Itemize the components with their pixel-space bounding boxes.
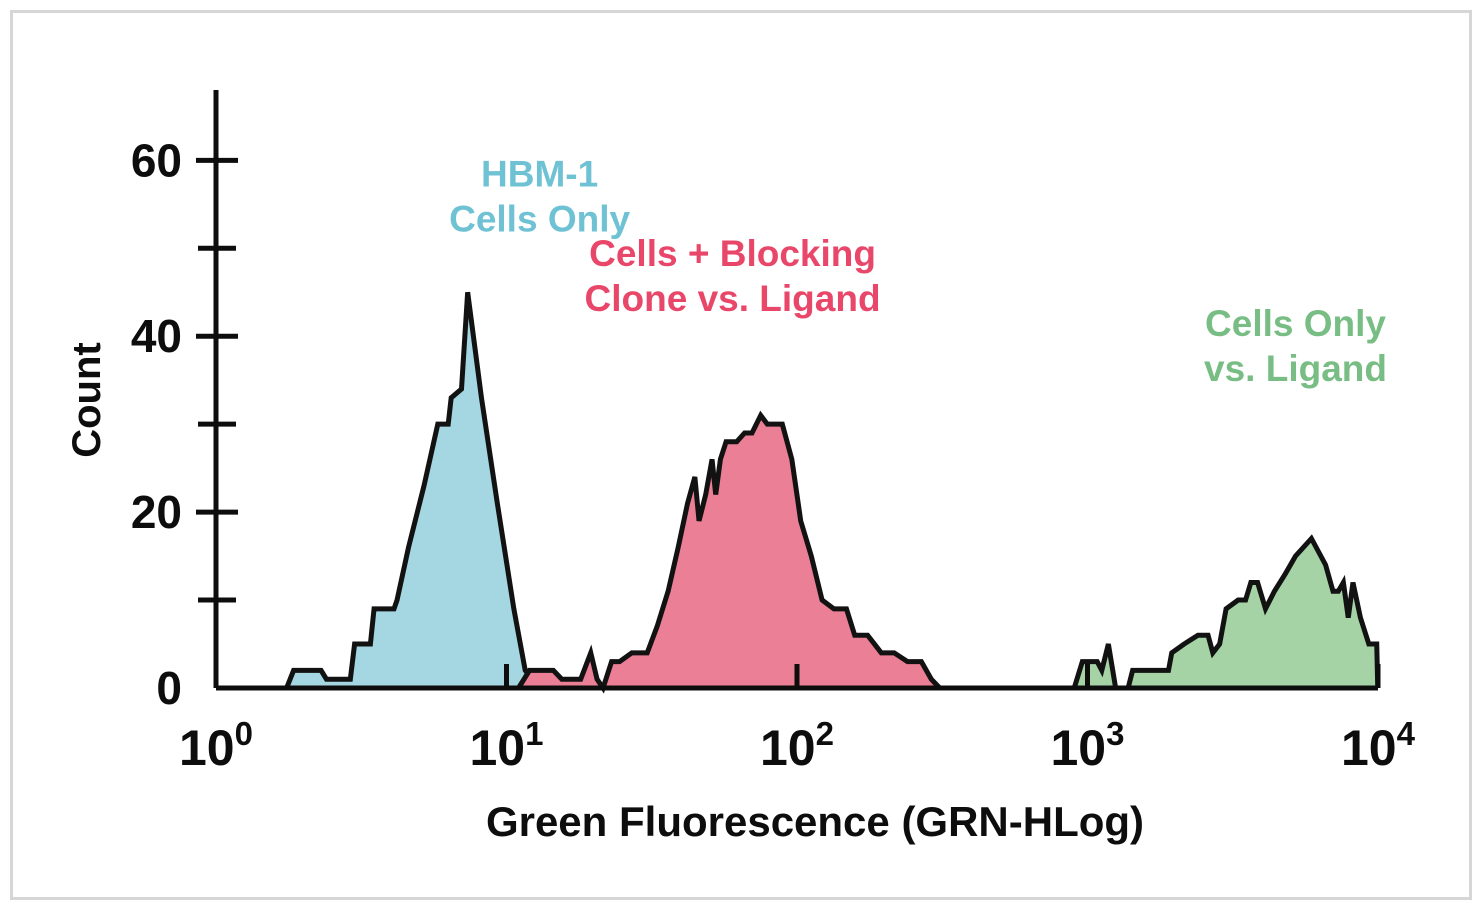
y-tick-layer: 0204060 bbox=[131, 134, 238, 714]
series-label-3: Cells Onlyvs. Ligand bbox=[1204, 303, 1387, 389]
x-axis-title: Green Fluorescence (GRN-HLog) bbox=[486, 798, 1144, 845]
y-tick-label-40: 40 bbox=[131, 310, 182, 362]
y-tick-20: 20 bbox=[131, 486, 238, 538]
series-annotation-layer: HBM-1Cells OnlyCells + BlockingClone vs.… bbox=[449, 154, 1387, 390]
y-tick-label-20: 20 bbox=[131, 486, 182, 538]
histogram-figure: 100101102103104 0204060 HBM-1Cells OnlyC… bbox=[0, 0, 1482, 910]
y-tick-0: 0 bbox=[156, 662, 182, 714]
y-tick-label-60: 60 bbox=[131, 134, 182, 186]
series-label-1: HBM-1Cells Only bbox=[449, 154, 630, 240]
y-axis-title: Count bbox=[65, 342, 109, 458]
x-tick-label-4: 104 bbox=[1341, 715, 1416, 776]
y-tick-label-0: 0 bbox=[156, 662, 182, 714]
x-tick-label-1: 101 bbox=[470, 715, 544, 776]
y-tick-60: 60 bbox=[131, 134, 238, 186]
series-area-1 bbox=[287, 292, 546, 688]
series-area-2 bbox=[519, 415, 940, 688]
x-tick-label-3: 103 bbox=[1051, 715, 1125, 776]
x-tick-0: 100 bbox=[179, 664, 253, 776]
x-tick-label-0: 100 bbox=[179, 715, 253, 776]
series-label-2: Cells + BlockingClone vs. Ligand bbox=[585, 233, 881, 319]
y-tick-40: 40 bbox=[131, 310, 238, 362]
series-area-3 bbox=[1074, 539, 1378, 689]
flow-cytometry-histogram: 100101102103104 0204060 HBM-1Cells OnlyC… bbox=[0, 0, 1482, 910]
x-tick-label-2: 102 bbox=[760, 715, 834, 776]
